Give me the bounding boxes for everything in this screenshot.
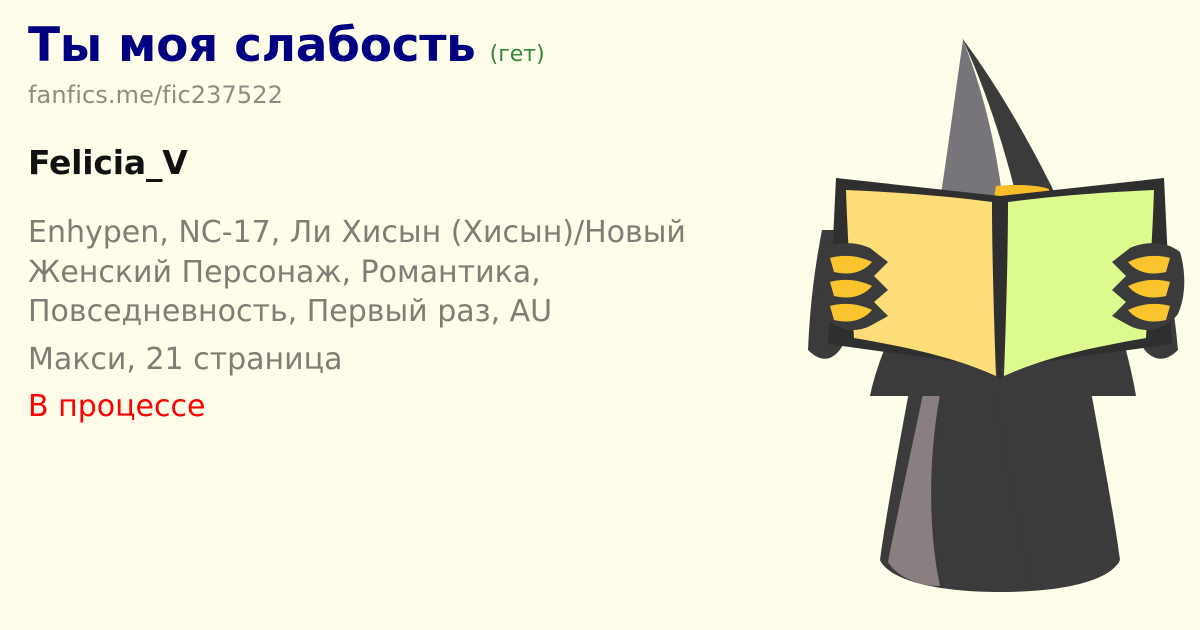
book-spine	[998, 202, 1002, 378]
title-row: Ты моя слабость (гет)	[28, 22, 818, 70]
status-badge: В процессе	[28, 387, 818, 427]
robe-shape	[880, 330, 1120, 592]
left-finger-3	[830, 304, 872, 322]
hat-cone-shape	[962, 38, 1100, 298]
hat-buckle-hole	[1009, 199, 1037, 227]
left-sleeve-shape	[810, 188, 879, 352]
text-column: Ты моя слабость (гет) fanfics.me/fic2375…	[28, 22, 818, 427]
meta-block: Enhypen, NC-17, Ли Хисын (Хисын)/Новый Ж…	[28, 213, 818, 427]
right-sleeve-taper	[1135, 230, 1178, 359]
robe-highlight-shape	[888, 350, 950, 586]
preview-card: Ты моя слабость (гет) fanfics.me/fic2375…	[0, 0, 1200, 630]
hat-highlight-shape	[928, 40, 1010, 276]
source-url[interactable]: fanfics.me/fic237522	[28, 81, 818, 109]
hat-brim-shape	[870, 268, 1136, 396]
right-finger-3	[1128, 304, 1170, 322]
left-finger-2	[830, 280, 872, 298]
tags-list: Enhypen, NC-17, Ли Хисын (Хисын)/Новый Ж…	[28, 213, 818, 332]
page-title: Ты моя слабость	[28, 22, 476, 70]
size-and-pages: Макси, 21 страница	[28, 340, 818, 380]
right-sleeve-shape	[1104, 188, 1172, 352]
genre-label: (гет)	[490, 44, 545, 66]
book-cover-shape	[828, 178, 1172, 368]
robe-fold-shape	[934, 340, 1030, 589]
book-page-right	[1004, 190, 1154, 376]
right-finger-2	[1128, 280, 1170, 298]
right-finger-1	[1128, 256, 1170, 274]
right-hand-shape	[1112, 243, 1184, 330]
left-hand-shape	[816, 243, 888, 330]
author-name[interactable]: Felicia_V	[28, 143, 818, 182]
book-page-left	[846, 190, 996, 376]
hat-buckle-shape	[994, 185, 1049, 242]
left-finger-1	[830, 256, 872, 274]
witch-reading-book-icon	[800, 0, 1200, 630]
